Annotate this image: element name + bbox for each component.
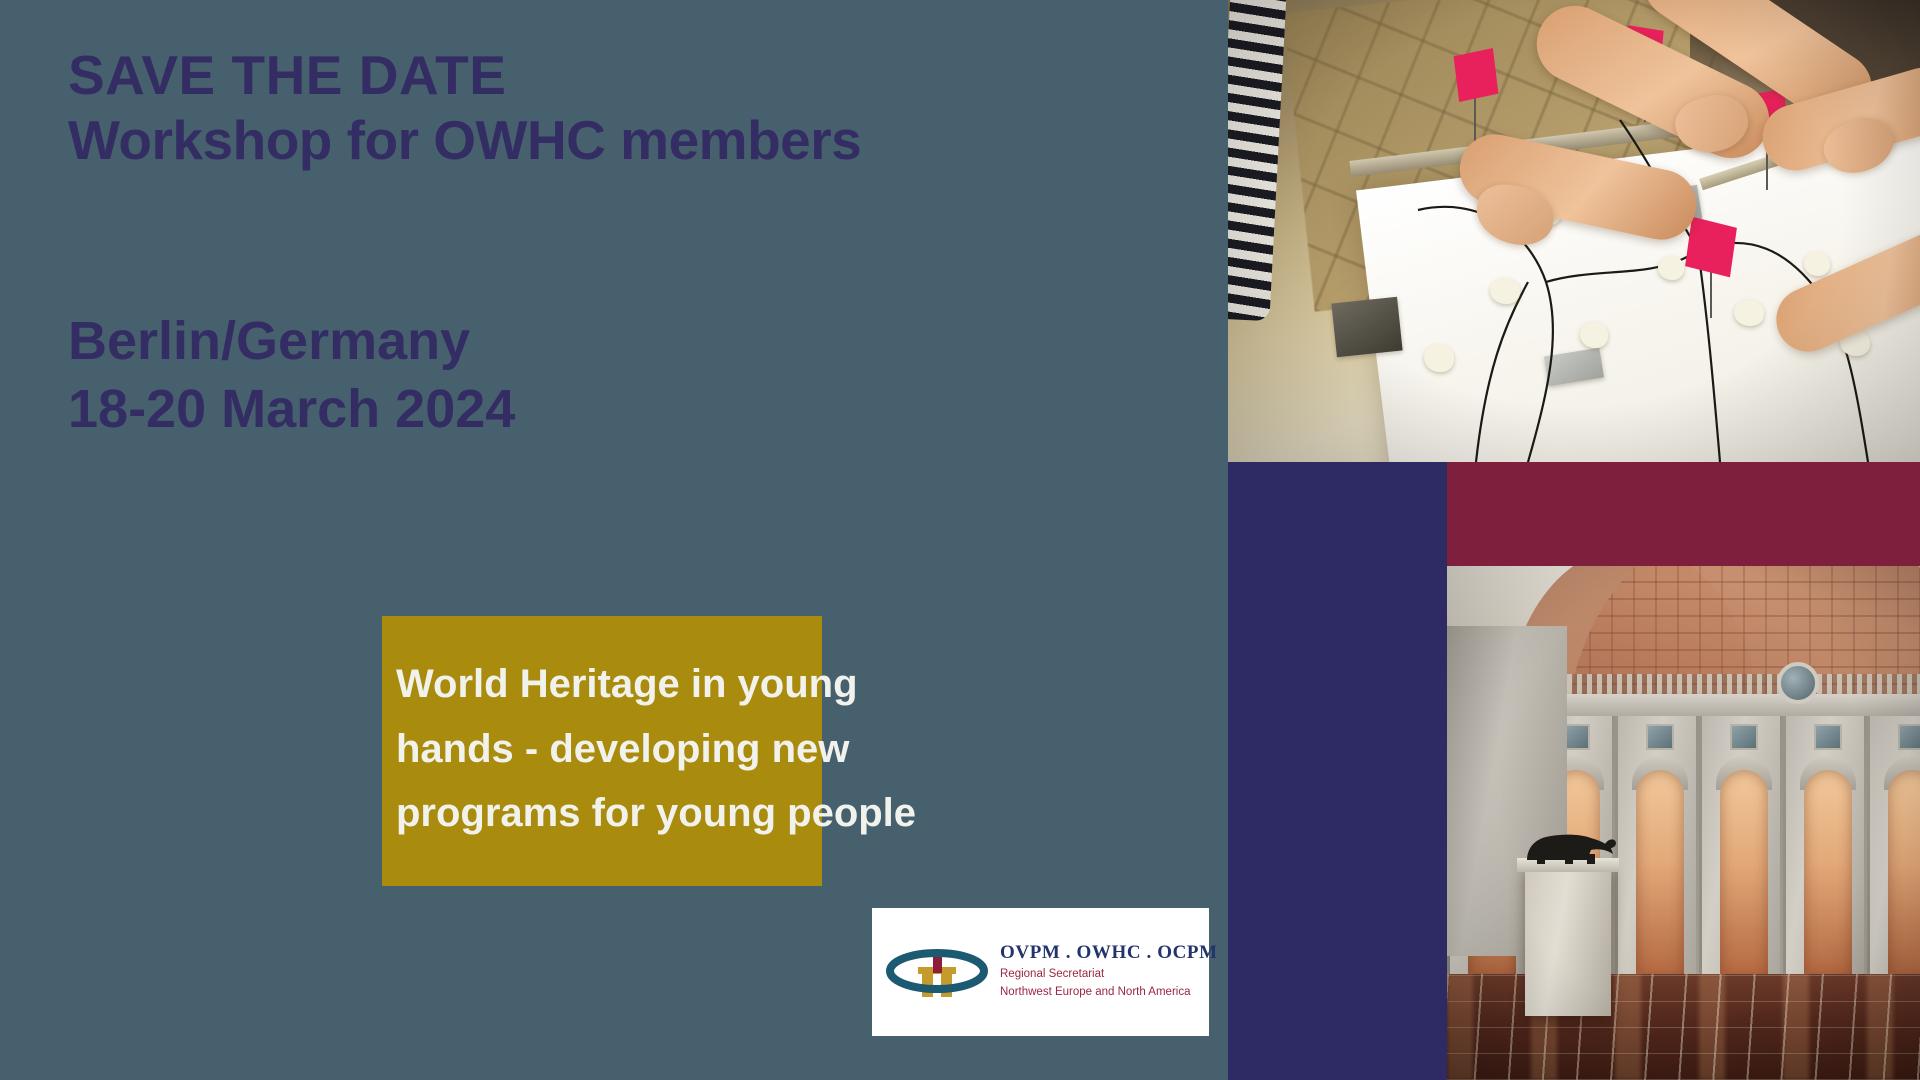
- banner-line-3: programs for young people: [396, 781, 808, 846]
- owhc-logo: OVPM . OWHC . OCPM Regional Secretariat …: [872, 908, 1209, 1036]
- event-location: Berlin/Germany: [68, 310, 1068, 374]
- navy-color-block: [1228, 462, 1447, 1080]
- save-the-date-slide: SAVE THE DATE Workshop for OWHC members …: [0, 0, 1920, 1080]
- neoclassical-hall-photo: [1447, 566, 1920, 1080]
- event-details: Berlin/Germany 18-20 March 2024: [68, 310, 1068, 441]
- maroon-color-block: [1447, 462, 1920, 566]
- page-title: SAVE THE DATE Workshop for OWHC members: [68, 46, 1168, 171]
- event-dates: 18-20 March 2024: [68, 378, 1068, 442]
- owhc-logo-subtitle-1: Regional Secretariat: [1000, 967, 1195, 982]
- headline-line-2: Workshop for OWHC members: [68, 111, 1168, 170]
- owhc-logo-subtitle-2: Northwest Europe and North America: [1000, 985, 1195, 1000]
- workshop-architectural-model-photo: [1228, 0, 1920, 462]
- bear-statue: [1521, 814, 1617, 864]
- workshop-title-banner: World Heritage in young hands - developi…: [382, 616, 822, 886]
- owhc-logo-text: OVPM . OWHC . OCPM Regional Secretariat …: [1000, 943, 1195, 1001]
- headline-line-1: SAVE THE DATE: [68, 46, 1168, 105]
- left-content-panel: SAVE THE DATE Workshop for OWHC members …: [0, 0, 1228, 1080]
- owhc-emblem-icon: [886, 941, 994, 1003]
- banner-line-1: World Heritage in young: [396, 652, 808, 717]
- owhc-logo-title: OVPM . OWHC . OCPM: [1000, 943, 1195, 964]
- right-media-column: [1228, 0, 1920, 1080]
- banner-line-2: hands - developing new: [396, 717, 808, 782]
